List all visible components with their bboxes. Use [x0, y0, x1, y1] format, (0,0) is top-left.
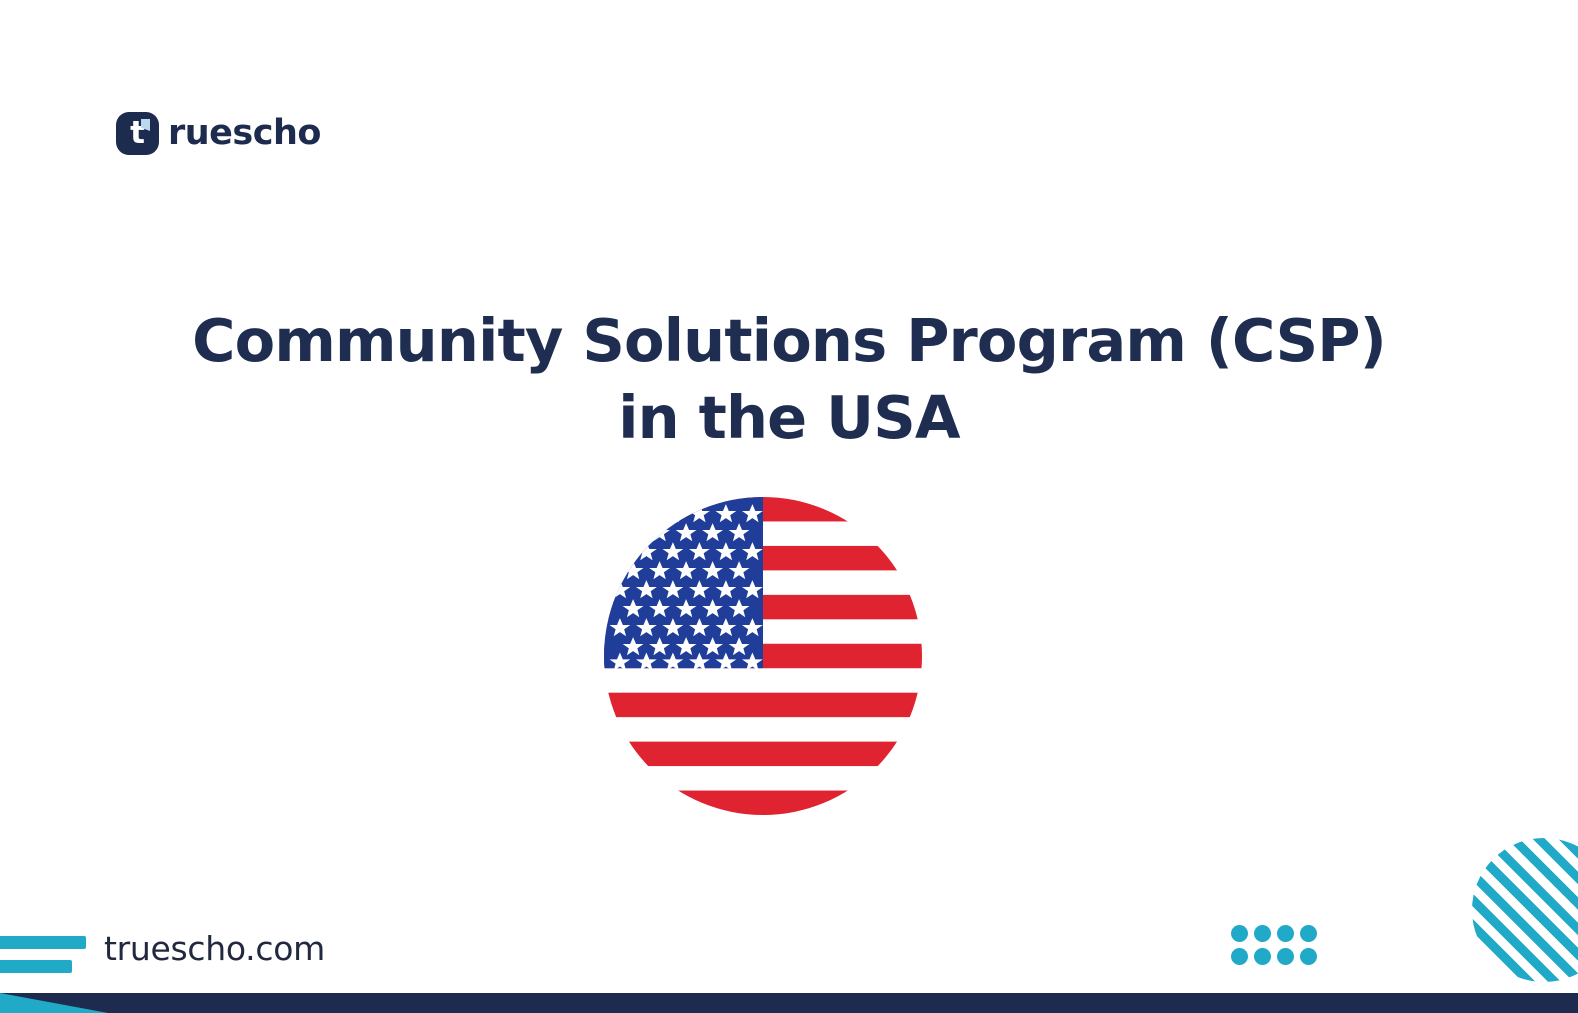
page-title-line-1: Community Solutions Program (CSP): [110, 302, 1468, 380]
grid-dot: [1231, 925, 1248, 942]
footer-website-url[interactable]: truescho.com: [104, 932, 325, 965]
logo-letter-t: t: [116, 112, 159, 155]
page-title: Community Solutions Program (CSP) in the…: [0, 302, 1578, 458]
grid-dot: [1254, 925, 1271, 942]
footer-bar-bottom: [0, 960, 72, 973]
slide-canvas: t ruescho Community Solutions Program (C…: [0, 0, 1578, 1013]
cyan-wedge-accent: [0, 993, 108, 1013]
truescho-logo-mark: t: [116, 112, 159, 155]
footer-bar-top: [0, 936, 86, 949]
page-title-line-2: in the USA: [110, 379, 1468, 457]
cyan-footer-bars: [0, 936, 86, 973]
cyan-dot-grid: [1231, 925, 1323, 971]
brand-wordmark: ruescho: [168, 116, 321, 151]
grid-dot: [1277, 948, 1294, 965]
grid-dot: [1300, 948, 1317, 965]
brand-logo[interactable]: t ruescho: [116, 112, 321, 155]
navy-footer-band: [0, 993, 1578, 1013]
grid-dot: [1300, 925, 1317, 942]
grid-dot: [1231, 948, 1248, 965]
grid-dot: [1277, 925, 1294, 942]
usa-flag-circle-icon: [604, 497, 922, 815]
striped-circle-decoration: [1472, 838, 1578, 982]
grid-dot: [1254, 948, 1271, 965]
